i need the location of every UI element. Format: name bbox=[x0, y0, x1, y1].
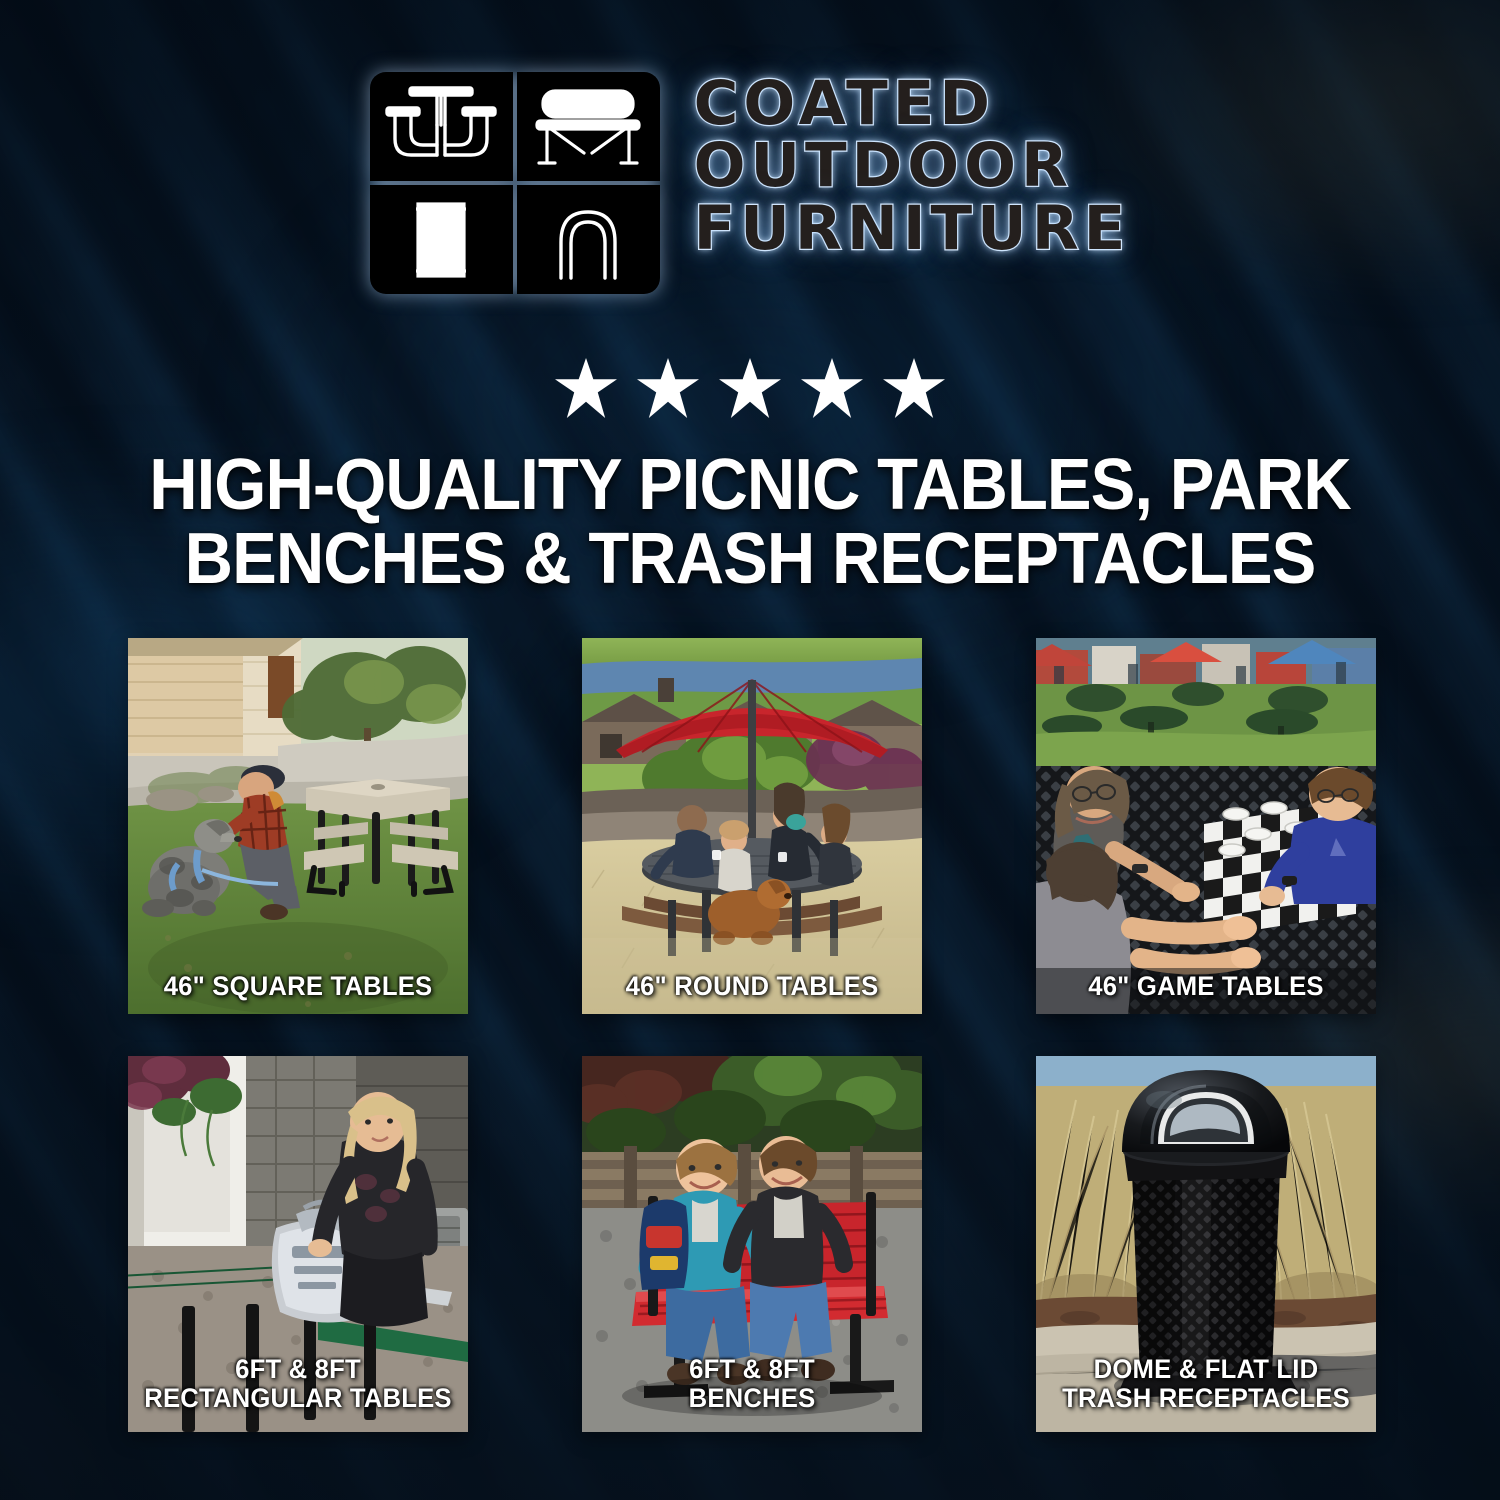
logo-line-2: OUTDOOR bbox=[694, 136, 1131, 196]
caption-line: 46" GAME TABLES bbox=[1050, 972, 1362, 1000]
star-rating bbox=[0, 358, 1500, 418]
photo-round-tables bbox=[582, 638, 922, 1014]
caption-line: TRASH RECEPTACLES bbox=[1050, 1384, 1362, 1412]
caption-line: 6FT & 8FT bbox=[142, 1355, 454, 1383]
headline-line-2: BENCHES & TRASH RECEPTACLES bbox=[53, 522, 1448, 596]
star-icon bbox=[801, 358, 863, 418]
trash-receptacle-icon bbox=[370, 185, 513, 294]
product-tile-rectangular-tables[interactable]: 6FT & 8FT RECTANGULAR TABLES bbox=[128, 1056, 468, 1432]
photo-game-tables bbox=[1036, 638, 1376, 1014]
tile-caption: 6FT & 8FT BENCHES bbox=[591, 1355, 914, 1412]
product-tile-round-tables[interactable]: 46" ROUND TABLES bbox=[582, 638, 922, 1014]
tile-caption: 46" ROUND TABLES bbox=[591, 972, 914, 1000]
logo-icon-grid bbox=[370, 72, 660, 294]
star-icon bbox=[637, 358, 699, 418]
product-category-grid: 46" SQUARE TABLES bbox=[128, 638, 1376, 1432]
product-tile-square-tables[interactable]: 46" SQUARE TABLES bbox=[128, 638, 468, 1014]
caption-line: BENCHES bbox=[596, 1384, 908, 1412]
tile-caption: 6FT & 8FT RECTANGULAR TABLES bbox=[137, 1355, 460, 1412]
product-tile-benches[interactable]: 6FT & 8FT BENCHES bbox=[582, 1056, 922, 1432]
product-tile-trash-receptacles[interactable]: DOME & FLAT LID TRASH RECEPTACLES bbox=[1036, 1056, 1376, 1432]
star-icon bbox=[883, 358, 945, 418]
caption-line: 6FT & 8FT bbox=[596, 1355, 908, 1383]
headline-line-1: HIGH-QUALITY PICNIC TABLES, PARK bbox=[53, 448, 1448, 522]
promo-banner: COATED OUTDOOR FURNITURE HIGH-QUALITY PI… bbox=[0, 0, 1500, 1500]
tile-caption: DOME & FLAT LID TRASH RECEPTACLES bbox=[1045, 1355, 1368, 1412]
logo-line-1: COATED bbox=[694, 74, 1131, 134]
logo-line-3: FURNITURE bbox=[694, 199, 1131, 259]
product-tile-game-tables[interactable]: 46" GAME TABLES bbox=[1036, 638, 1376, 1014]
brand-logo: COATED OUTDOOR FURNITURE bbox=[0, 72, 1500, 294]
logo-wordmark: COATED OUTDOOR FURNITURE bbox=[694, 72, 1131, 259]
star-icon bbox=[555, 358, 617, 418]
caption-line: DOME & FLAT LID bbox=[1050, 1355, 1362, 1383]
photo-square-tables bbox=[128, 638, 468, 1014]
park-bench-icon bbox=[517, 72, 660, 181]
bike-rack-icon bbox=[517, 185, 660, 294]
page-title: HIGH-QUALITY PICNIC TABLES, PARK BENCHES… bbox=[53, 448, 1448, 596]
caption-line: 46" SQUARE TABLES bbox=[142, 972, 454, 1000]
tile-caption: 46" SQUARE TABLES bbox=[137, 972, 460, 1000]
star-icon bbox=[719, 358, 781, 418]
picnic-table-icon bbox=[370, 72, 513, 181]
caption-line: 46" ROUND TABLES bbox=[596, 972, 908, 1000]
tile-caption: 46" GAME TABLES bbox=[1045, 972, 1368, 1000]
caption-line: RECTANGULAR TABLES bbox=[142, 1384, 454, 1412]
